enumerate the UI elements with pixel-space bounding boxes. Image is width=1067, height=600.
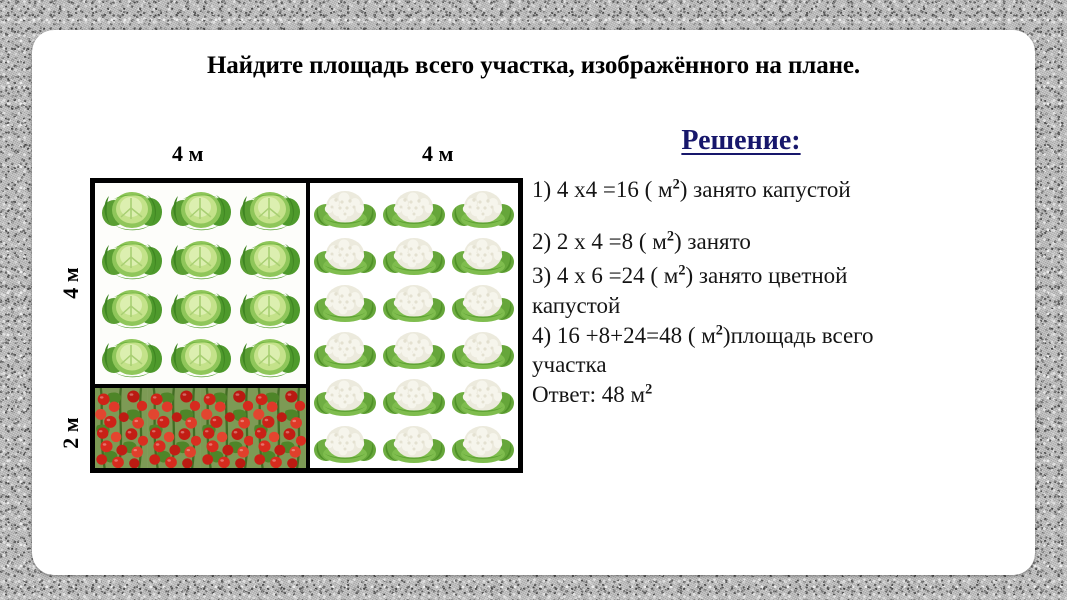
solution-step-text: 1) 4 x4 =16 ( м <box>532 177 673 202</box>
square-meter-exponent: 2 <box>645 382 652 398</box>
plot-cauliflower <box>310 183 518 468</box>
solution-step-7: Ответ: 48 м2 <box>532 380 1010 410</box>
cauliflower-plant <box>448 185 517 232</box>
cabbage-plant <box>235 284 304 333</box>
solution-step-1: 1) 4 x4 =16 ( м2) занято капустой <box>532 175 1010 205</box>
cauliflower-icon <box>383 326 445 372</box>
cabbage-icon <box>239 187 301 233</box>
cauliflower-plant <box>311 279 380 326</box>
cauliflower-plant <box>311 232 380 279</box>
cabbage-icon <box>170 236 232 282</box>
cauliflower-icon <box>452 373 514 419</box>
cabbage-icon <box>101 187 163 233</box>
tomato-vine-tile <box>253 388 306 468</box>
cauliflower-icon <box>314 326 376 372</box>
cabbage-plant <box>97 234 166 283</box>
solution-step-text: участка <box>532 352 607 377</box>
tomato-vine-icon <box>201 388 254 468</box>
cabbage-plant <box>97 284 166 333</box>
tomato-vine-icon <box>95 388 148 468</box>
solution-step-6: участка <box>532 350 1010 380</box>
cauliflower-plant <box>448 372 517 419</box>
cauliflower-plant <box>448 325 517 372</box>
cabbage-plant <box>97 185 166 234</box>
cauliflower-plant <box>380 279 449 326</box>
cauliflower-plant <box>311 325 380 372</box>
cauliflower-plant <box>380 185 449 232</box>
tomato-vine-icon <box>148 388 201 468</box>
cabbage-plant <box>235 185 304 234</box>
cabbage-icon <box>170 334 232 380</box>
cabbage-icon <box>101 236 163 282</box>
cabbage-icon <box>101 334 163 380</box>
cauliflower-plant <box>311 372 380 419</box>
cabbage-icon <box>101 285 163 331</box>
tomato-vine-tile <box>148 388 201 468</box>
solution-step-text: Ответ: 48 м <box>532 382 645 407</box>
cauliflower-icon <box>383 279 445 325</box>
cauliflower-icon <box>314 185 376 231</box>
page-title: Найдите площадь всего участка, изображён… <box>32 52 1035 80</box>
cauliflower-plant <box>380 232 449 279</box>
cauliflower-plant <box>380 419 449 466</box>
solution-step-text: 2) 2 x 4 =8 ( м <box>532 229 667 254</box>
cauliflower-icon <box>314 279 376 325</box>
solution-step-text-tail: ) занято <box>674 229 751 254</box>
cabbage-icon <box>170 285 232 331</box>
cabbage-icon <box>170 187 232 233</box>
cauliflower-plant <box>448 419 517 466</box>
cauliflower-icon <box>314 373 376 419</box>
solution-step-text-tail: ) занято цветной <box>685 263 847 288</box>
solution-step-text: капустой <box>532 293 620 318</box>
solution-step-4: капустой <box>532 291 1010 321</box>
cauliflower-icon <box>314 420 376 466</box>
square-meter-exponent: 2 <box>716 322 723 338</box>
tomato-vine-icon <box>253 388 306 468</box>
plan-left-column <box>95 183 310 468</box>
solution-step-2: 2) 2 x 4 =8 ( м2) занято <box>532 227 1010 257</box>
solution-step-3: 3) 4 x 6 =24 ( м2) занято цветной <box>532 261 1010 291</box>
cabbage-plant <box>166 284 235 333</box>
solution-step-list: 1) 4 x4 =16 ( м2) занято капустой2) 2 x … <box>532 175 1010 410</box>
garden-plan-diagram <box>90 178 523 473</box>
cauliflower-icon <box>452 326 514 372</box>
dimension-label-side-top: 4 м <box>58 260 84 306</box>
dimension-label-top-right: 4 м <box>422 141 454 167</box>
cauliflower-plant <box>448 279 517 326</box>
cabbage-plant <box>166 185 235 234</box>
cauliflower-icon <box>314 232 376 278</box>
solution-step-text: 3) 4 x 6 =24 ( м <box>532 263 678 288</box>
cauliflower-icon <box>452 232 514 278</box>
cauliflower-icon <box>383 420 445 466</box>
cabbage-icon <box>239 236 301 282</box>
cabbage-plant <box>166 234 235 283</box>
cabbage-plant <box>97 333 166 382</box>
slide-card: Найдите площадь всего участка, изображён… <box>32 30 1035 575</box>
cabbage-icon <box>239 334 301 380</box>
cauliflower-icon <box>452 420 514 466</box>
cauliflower-plant <box>448 232 517 279</box>
solution-step-text: 4) 16 +8+24=48 ( м <box>532 323 716 348</box>
plot-cabbage <box>95 183 306 388</box>
square-meter-exponent: 2 <box>667 228 674 244</box>
solution-heading: Решение: <box>532 125 1010 157</box>
tomato-vine-tile <box>201 388 254 468</box>
solution-step-text-tail: ) занято капустой <box>680 177 851 202</box>
solution-panel: Решение: 1) 4 x4 =16 ( м2) занято капуст… <box>532 125 1010 410</box>
solution-step-5: 4) 16 +8+24=48 ( м2)площадь всего <box>532 321 1010 351</box>
cabbage-plant <box>166 333 235 382</box>
plot-tomato <box>95 388 306 468</box>
cauliflower-icon <box>383 373 445 419</box>
cauliflower-icon <box>452 279 514 325</box>
cabbage-icon <box>239 285 301 331</box>
square-meter-exponent: 2 <box>673 176 680 192</box>
dimension-label-side-bottom: 2 м <box>58 410 84 456</box>
solution-step-text-tail: )площадь всего <box>723 323 874 348</box>
cabbage-plant <box>235 234 304 283</box>
cauliflower-plant <box>380 325 449 372</box>
cauliflower-plant <box>311 185 380 232</box>
cauliflower-icon <box>452 185 514 231</box>
tomato-vine-tile <box>95 388 148 468</box>
cauliflower-plant <box>311 419 380 466</box>
dimension-label-top-left: 4 м <box>172 141 204 167</box>
cauliflower-icon <box>383 232 445 278</box>
cauliflower-plant <box>380 372 449 419</box>
cabbage-plant <box>235 333 304 382</box>
cauliflower-icon <box>383 185 445 231</box>
